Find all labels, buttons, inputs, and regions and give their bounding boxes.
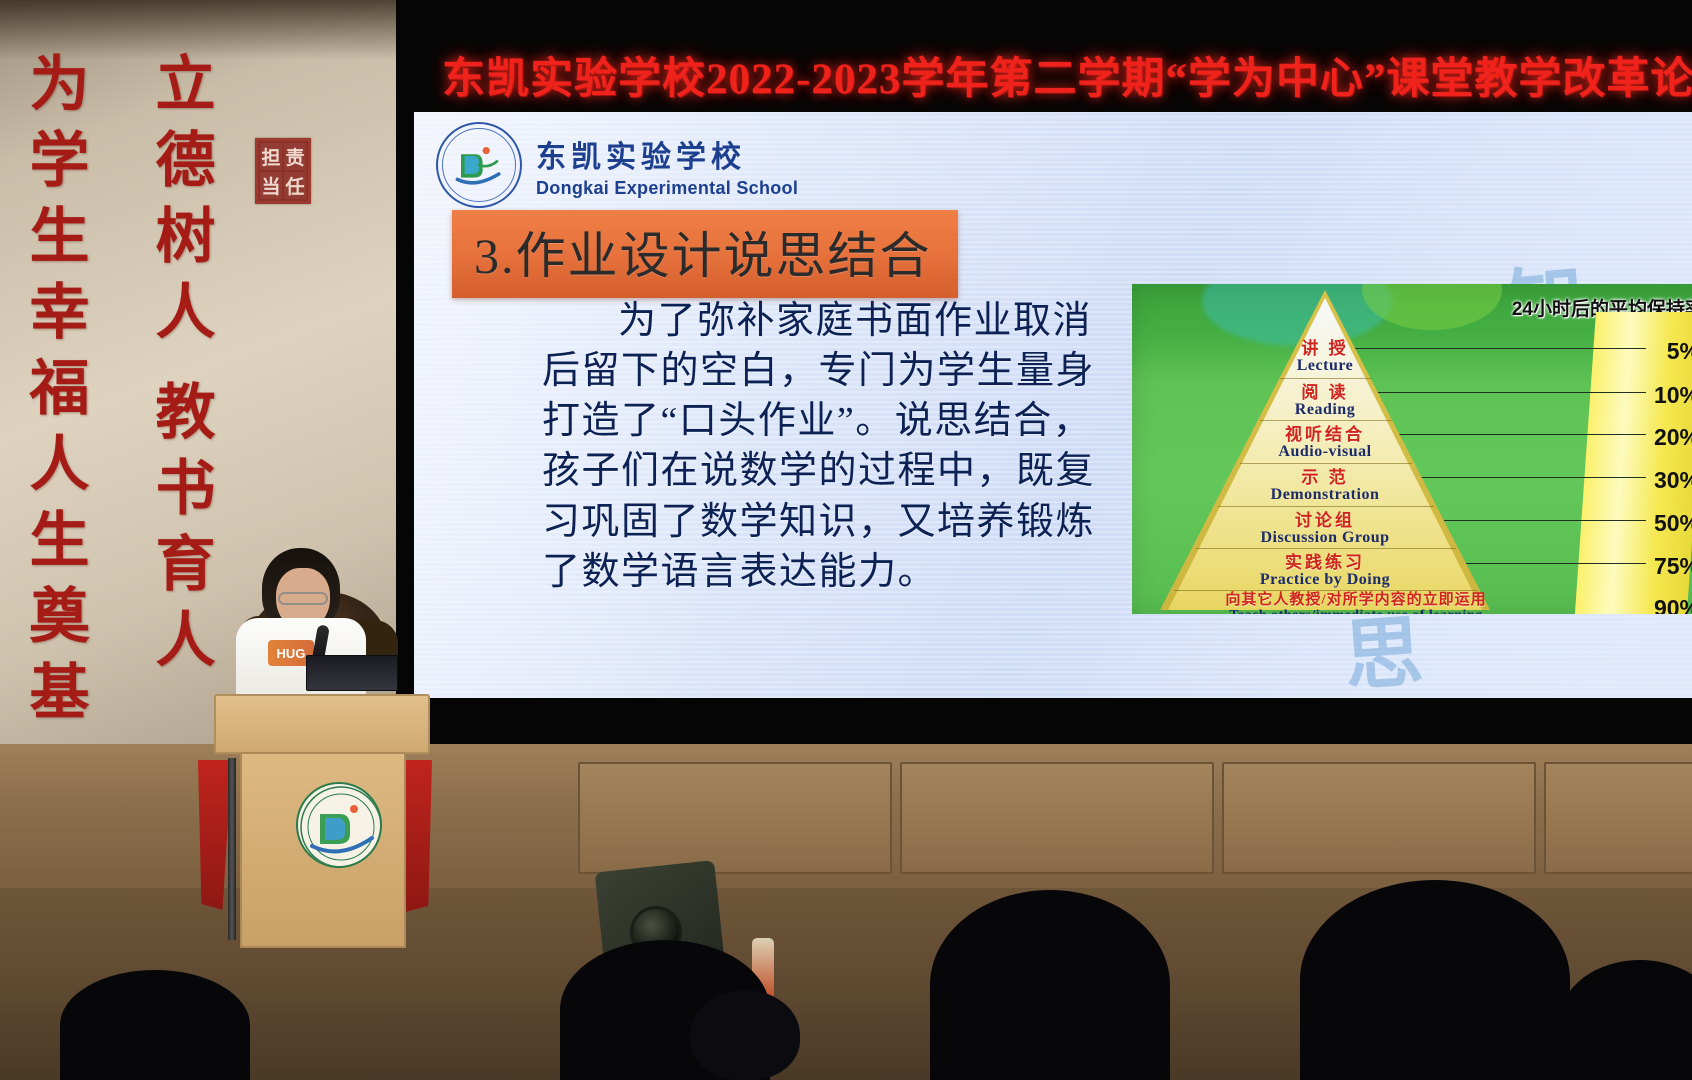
percent-label-1: 5% bbox=[1667, 338, 1692, 365]
seal-char-3: 当 bbox=[260, 172, 282, 199]
pyramid-divider-3 bbox=[1240, 463, 1412, 464]
pyramid-divider-2 bbox=[1260, 420, 1392, 421]
percent-label-5: 50% bbox=[1654, 510, 1692, 537]
seal-char-4: 任 bbox=[284, 172, 306, 199]
pyramid-divider-1 bbox=[1280, 378, 1372, 379]
podium-crest-glyph-icon bbox=[298, 784, 382, 868]
percent-label-6: 75% bbox=[1654, 553, 1692, 580]
pyramid-divider-4 bbox=[1218, 506, 1434, 507]
slide-content: 东凯实验学校 Dongkai Experimental School 3.作业设… bbox=[414, 112, 1692, 698]
slide-heading-text: 3.作业设计说思结合 bbox=[474, 228, 932, 284]
pyramid-percent-labels: 5% 10% 20% 30% 50% 75% 90% bbox=[1598, 312, 1692, 614]
podium-crest-icon bbox=[296, 782, 382, 868]
slide-logo: 东凯实验学校 Dongkai Experimental School bbox=[436, 122, 798, 208]
pyramid-triangle: 讲 授 Lecture 阅 读 Reading 视听结合 Audio-visua… bbox=[1160, 290, 1490, 610]
slide-body-paragraph: 为了弥补家庭书面作业取消后留下的空白，专门为学生量身打造了“口头作业”。说思结合… bbox=[542, 296, 1102, 597]
logo-name-cn: 东凯实验学校 bbox=[536, 132, 798, 176]
speaker-glasses bbox=[278, 592, 328, 605]
banner-title: 东凯实验学校2022-2023学年第二学期“学为中心”课堂教学改革论坛 bbox=[442, 44, 1692, 106]
pyramid-divider-6 bbox=[1174, 590, 1478, 591]
slide-heading: 3.作业设计说思结合 bbox=[452, 210, 958, 298]
pyramid-divider-5 bbox=[1196, 548, 1456, 549]
wall-panel-2 bbox=[900, 762, 1214, 874]
wall-calligraphy-left: 为学生幸福人生奠基 bbox=[24, 52, 84, 736]
audience-head-1 bbox=[60, 970, 250, 1080]
seal-char-2: 责 bbox=[284, 143, 306, 170]
school-crest-icon bbox=[436, 122, 522, 208]
audience-head-3 bbox=[930, 890, 1170, 1080]
crest-glyph-icon bbox=[452, 138, 506, 192]
wall-shadow bbox=[0, 0, 430, 60]
flag-pole bbox=[228, 758, 236, 940]
event-banner: 东凯实验学校2022-2023学年第二学期“学为中心”课堂教学改革论坛 bbox=[396, 0, 1692, 112]
pyramid-fill bbox=[1168, 298, 1482, 610]
wall-calligraphy-mid-bottom: 教书育人 bbox=[150, 380, 210, 684]
seal-char-1: 担 bbox=[260, 143, 282, 170]
laptop-icon bbox=[306, 655, 398, 691]
projection-screen: 东凯实验学校2022-2023学年第二学期“学为中心”课堂教学改革论坛 bbox=[396, 0, 1692, 745]
wall-panel-1 bbox=[578, 762, 892, 874]
percent-label-2: 10% bbox=[1654, 382, 1692, 409]
wall-panel-4 bbox=[1544, 762, 1692, 874]
audience-head-6 bbox=[690, 990, 800, 1080]
audience-head-4 bbox=[1300, 880, 1570, 1080]
wall-panel-3 bbox=[1222, 762, 1536, 874]
presentation-photo: 为学生幸福人生奠基 立德树人 教书育人 担 责 当 任 东凯实验学校2022-2… bbox=[0, 0, 1692, 1080]
percent-label-3: 20% bbox=[1654, 424, 1692, 451]
wall-seal-stamp: 担 责 当 任 bbox=[255, 138, 311, 204]
percent-label-4: 30% bbox=[1654, 467, 1692, 494]
percent-label-7: 90% bbox=[1654, 595, 1692, 614]
logo-name-en: Dongkai Experimental School bbox=[536, 178, 798, 199]
wall-calligraphy-mid-top: 立德树人 bbox=[150, 52, 210, 356]
podium-top bbox=[214, 694, 430, 754]
learning-pyramid-chart: 24小时后的平均保持率 bbox=[1132, 284, 1692, 614]
